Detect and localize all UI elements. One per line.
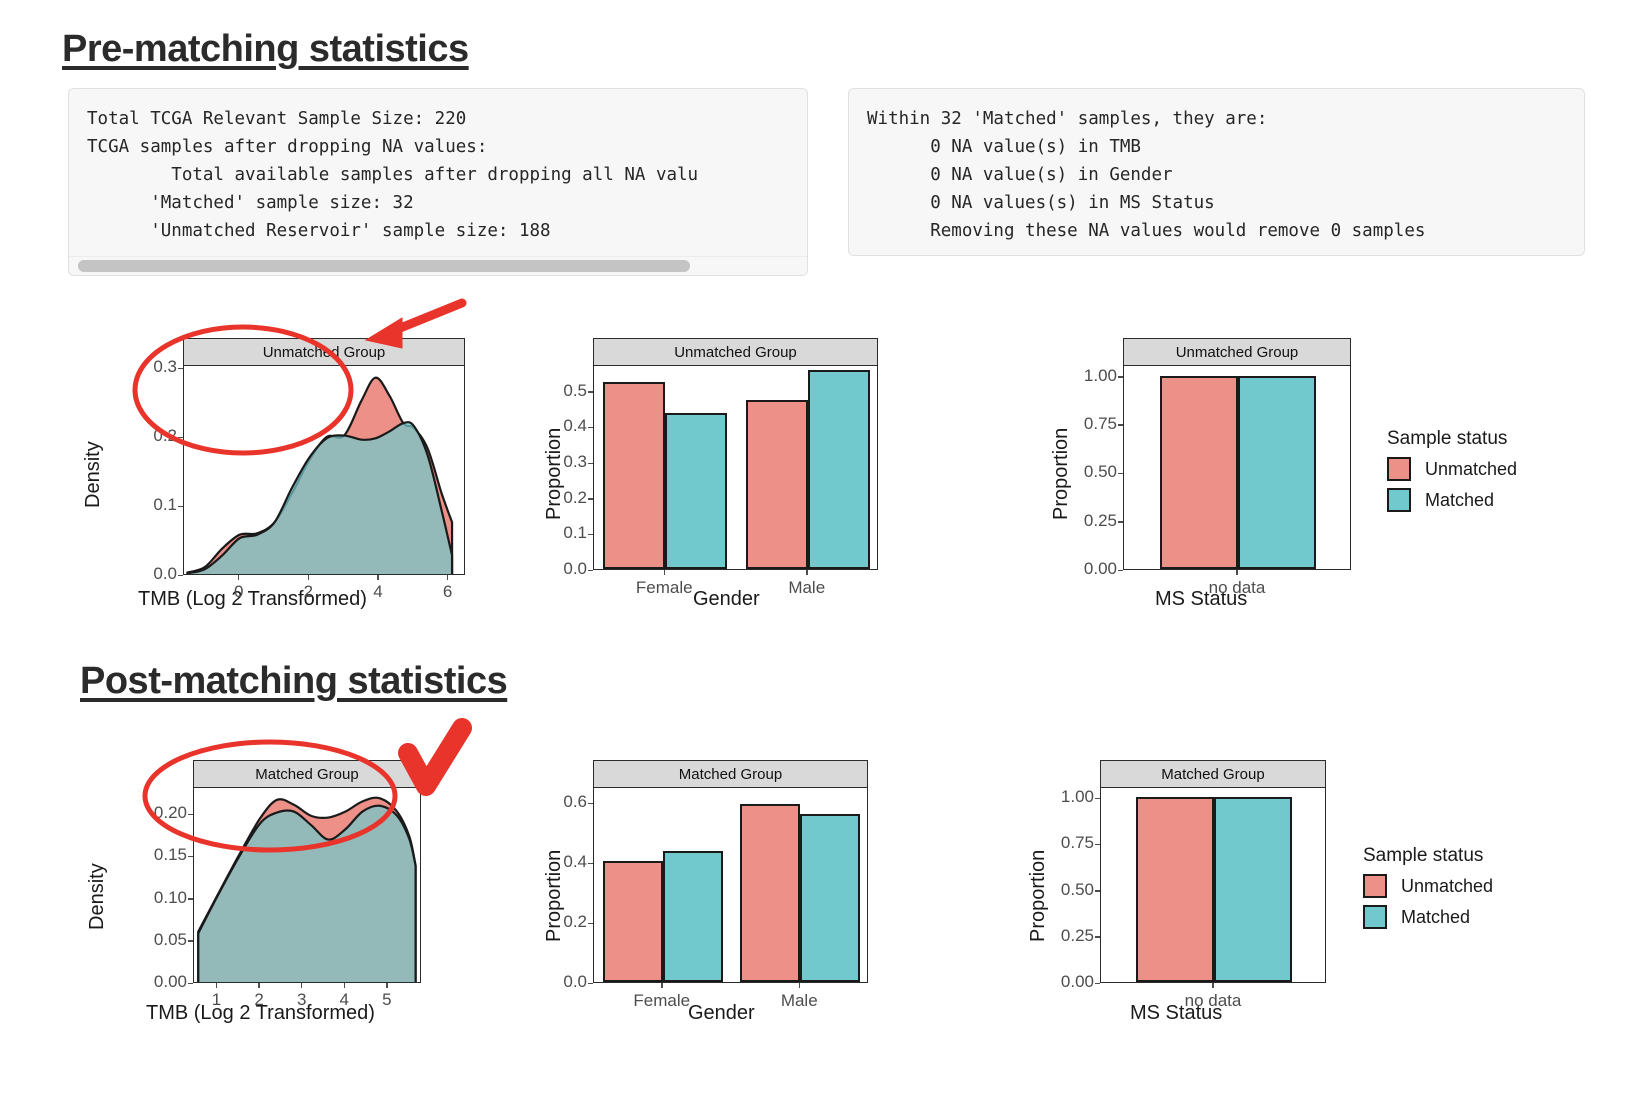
x-tick-label: Male [747,578,867,598]
axis-tick [1095,983,1100,985]
bar-no-data-unmatched [1136,797,1214,982]
axis-tick [178,368,183,370]
x-tick-label: 2 [286,582,330,602]
axis-tick [238,575,240,580]
plot-panel [1100,787,1326,983]
axis-tick [216,983,218,988]
legend-swatch-matched [1363,905,1387,929]
legend-label-unmatched: Unmatched [1425,459,1517,480]
density-area-matched [187,422,452,575]
axis-tick [588,534,593,536]
y-tick-label: 0.50 [1061,462,1117,482]
page-title-post-matching: Post-matching statistics [80,660,507,703]
x-tick-label: 4 [356,582,400,602]
axis-tick [588,391,593,393]
axis-tick [178,437,183,439]
x-tick-label: 4 [322,990,366,1010]
x-tick-label: 6 [426,582,470,602]
chart-post-density: Matched Group Density TMB (Log 2 Transfo… [68,752,488,1042]
y-tick-label: 0.4 [531,852,587,872]
legend-post-matching: Sample status Unmatched Matched [1363,845,1493,929]
legend-label-matched: Matched [1401,907,1470,928]
y-tick-label: 0.50 [1038,880,1094,900]
axis-tick [447,575,449,580]
axis-tick [588,570,593,572]
y-tick-label: 0.5 [531,381,587,401]
axis-tick [588,498,593,500]
legend-label-unmatched: Unmatched [1401,876,1493,897]
axis-tick [588,923,593,925]
axis-tick [1095,844,1100,846]
legend-title: Sample status [1387,428,1517,450]
legend-swatch-matched [1387,488,1411,512]
axis-tick [664,570,666,575]
y-tick-label: 1.00 [1038,787,1094,807]
pre-matching-left-console-text: Total TCGA Relevant Sample Size: 220 TCG… [69,89,807,245]
y-tick-label: 0.25 [1038,926,1094,946]
bar-female-unmatched [603,382,665,569]
y-tick-label: 0.15 [135,845,187,865]
legend-item-matched[interactable]: Matched [1363,905,1493,929]
axis-tick [588,863,593,865]
y-tick-label: 0.6 [531,792,587,812]
bar-female-matched [665,413,727,569]
axis-tick [1236,570,1238,575]
plot-panel [593,365,878,570]
bar-no-data-matched [1214,797,1292,982]
y-tick-label: 0.25 [1061,511,1117,531]
axis-tick [1118,521,1123,523]
axis-tick [308,575,310,580]
pre-matching-right-console[interactable]: Within 32 'Matched' samples, they are: 0… [848,88,1585,256]
axis-tick [344,983,346,988]
legend-swatch-unmatched [1363,874,1387,898]
x-tick-label: no data [1153,991,1273,1011]
y-axis-title: Density [86,863,109,930]
x-tick-label: Female [602,991,722,1011]
x-tick-label: Male [739,991,859,1011]
axis-tick [1095,890,1100,892]
bar-no-data-unmatched [1160,376,1238,569]
facet-strip-label: Matched Group [1100,760,1326,788]
chart-pre-ms: Unmatched Group Proportion MS Status 0.0… [1045,330,1355,620]
axis-tick [178,575,183,577]
axis-tick [178,506,183,508]
x-tick-label: 5 [365,990,409,1010]
plot-panel [1123,365,1351,570]
legend-item-unmatched[interactable]: Unmatched [1363,874,1493,898]
bar-male-unmatched [740,804,800,982]
plot-panel [593,787,868,983]
axis-tick [188,983,193,985]
bar-male-matched [800,814,860,982]
y-tick-label: 0.0 [531,972,587,992]
horizontal-scrollbar-track[interactable] [69,256,807,275]
y-tick-label: 0.3 [125,357,177,377]
x-tick-label: 0 [217,582,261,602]
facet-strip-label: Unmatched Group [593,338,878,366]
y-tick-label: 0.2 [531,488,587,508]
chart-post-gender: Matched Group Proportion Gender 0.00.20.… [538,752,938,1042]
y-tick-label: 0.00 [135,972,187,992]
axis-tick [188,940,193,942]
legend-item-unmatched[interactable]: Unmatched [1387,457,1517,481]
x-tick-label: Female [604,578,724,598]
x-tick-label: 1 [194,990,238,1010]
x-tick-label: 3 [280,990,324,1010]
bar-no-data-matched [1238,376,1316,569]
axis-tick [588,803,593,805]
y-tick-label: 0.05 [135,930,187,950]
axis-tick [661,983,663,988]
facet-strip-label: Matched Group [193,760,421,788]
facet-strip-label: Unmatched Group [183,338,465,366]
axis-tick [377,575,379,580]
y-axis-title: Density [82,441,105,508]
y-tick-label: 0.2 [531,912,587,932]
bar-male-unmatched [746,400,808,569]
facet-strip-label: Matched Group [593,760,868,788]
axis-tick [588,983,593,985]
density-svg [194,788,421,983]
axis-tick [588,427,593,429]
chart-pre-density: Unmatched Group Density TMB (Log 2 Trans… [68,330,488,620]
axis-tick [188,856,193,858]
axis-tick [588,463,593,465]
axis-tick [188,898,193,900]
pre-matching-left-console[interactable]: Total TCGA Relevant Sample Size: 220 TCG… [68,88,808,276]
y-tick-label: 0.0 [531,559,587,579]
density-svg [184,366,465,575]
bar-female-matched [663,851,723,982]
legend-swatch-unmatched [1387,457,1411,481]
density-area-matched [198,806,415,983]
legend-pre-matching: Sample status Unmatched Matched [1387,428,1517,512]
chart-post-ms: Matched Group Proportion MS Status 0.000… [1022,752,1332,1042]
x-tick-label: 2 [237,990,281,1010]
axis-tick [386,983,388,988]
page-title-pre-matching: Pre-matching statistics [62,28,469,71]
y-tick-label: 0.1 [125,495,177,515]
axis-tick [1118,570,1123,572]
y-tick-label: 0.4 [531,416,587,436]
bar-male-matched [808,370,870,569]
y-tick-label: 0.0 [125,564,177,584]
y-tick-label: 0.00 [1061,559,1117,579]
axis-tick [799,983,801,988]
axis-tick [1095,936,1100,938]
axis-tick [188,814,193,816]
y-tick-label: 1.00 [1061,366,1117,386]
axis-tick [1118,376,1123,378]
axis-tick [1212,983,1214,988]
y-tick-label: 0.20 [135,803,187,823]
chart-pre-gender: Unmatched Group Proportion Gender 0.00.1… [538,330,938,620]
y-tick-label: 0.1 [531,523,587,543]
plot-panel [193,787,421,983]
axis-tick [1118,424,1123,426]
y-tick-label: 0.3 [531,452,587,472]
horizontal-scrollbar-thumb[interactable] [78,260,690,272]
x-tick-label: no data [1177,578,1297,598]
legend-item-matched[interactable]: Matched [1387,488,1517,512]
axis-tick [301,983,303,988]
axis-tick [806,570,808,575]
legend-label-matched: Matched [1425,490,1494,511]
bar-female-unmatched [603,861,663,983]
pre-matching-right-console-text: Within 32 'Matched' samples, they are: 0… [849,89,1584,245]
y-tick-label: 0.2 [125,426,177,446]
y-tick-label: 0.75 [1061,414,1117,434]
axis-tick [258,983,260,988]
y-tick-label: 0.00 [1038,972,1094,992]
plot-panel [183,365,465,575]
facet-strip-label: Unmatched Group [1123,338,1351,366]
y-tick-label: 0.10 [135,888,187,908]
axis-tick [1095,798,1100,800]
axis-tick [1118,473,1123,475]
legend-title: Sample status [1363,845,1493,867]
y-tick-label: 0.75 [1038,833,1094,853]
